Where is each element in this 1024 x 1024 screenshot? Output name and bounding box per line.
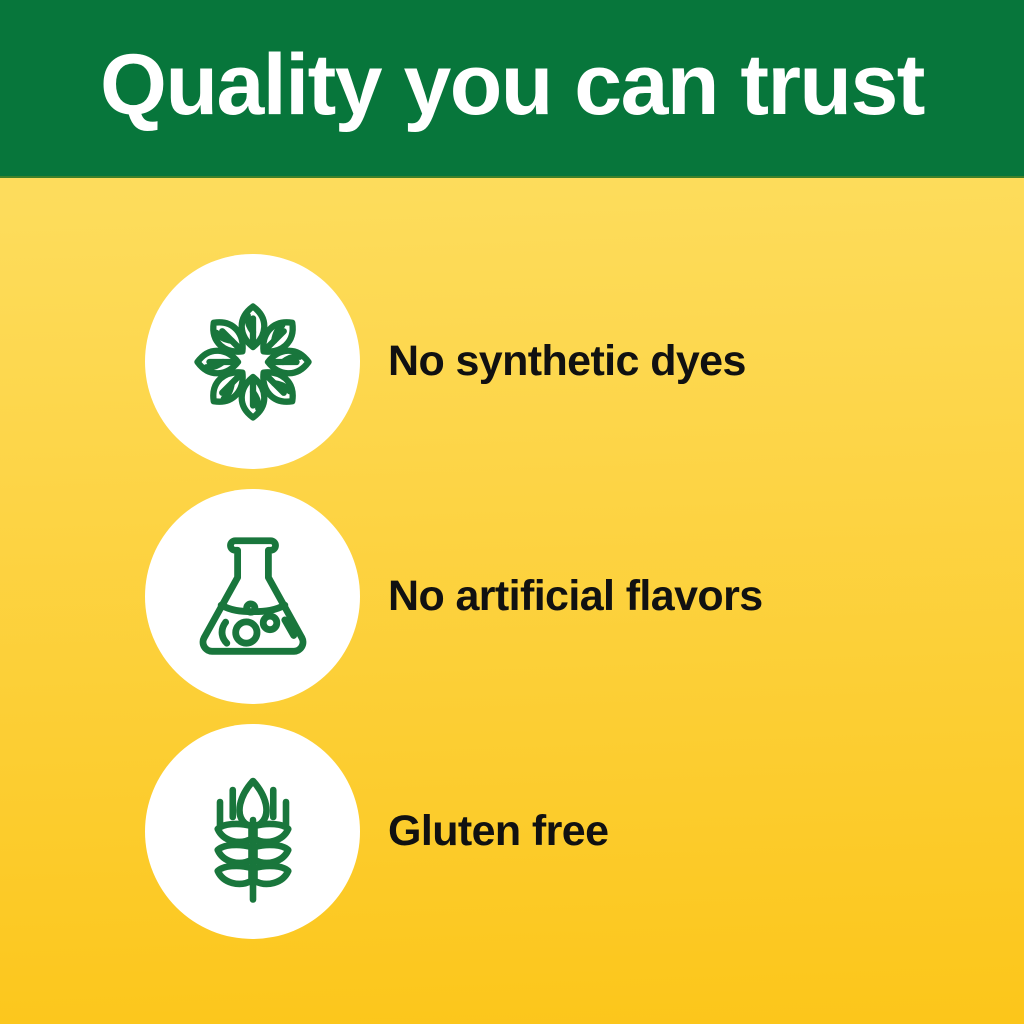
feature-label: No artificial flavors — [388, 573, 763, 620]
feature-list: No synthetic dyes — [0, 178, 1024, 1024]
feature-row: No artificial flavors — [0, 479, 1024, 714]
feature-row: No synthetic dyes — [0, 244, 1024, 479]
feature-label: No synthetic dyes — [388, 338, 746, 385]
quality-banner: Quality you can trust — [0, 0, 1024, 1024]
icon-badge — [145, 724, 360, 939]
icon-badge — [145, 489, 360, 704]
erlenmeyer-flask-icon — [179, 523, 327, 671]
feature-label: Gluten free — [388, 808, 608, 855]
icon-badge — [145, 254, 360, 469]
flower-petals-icon — [178, 287, 328, 437]
feature-row: Gluten free — [0, 714, 1024, 949]
page-title: Quality you can trust — [100, 42, 924, 128]
wheat-stalk-icon — [178, 757, 328, 907]
header-bar: Quality you can trust — [0, 0, 1024, 178]
